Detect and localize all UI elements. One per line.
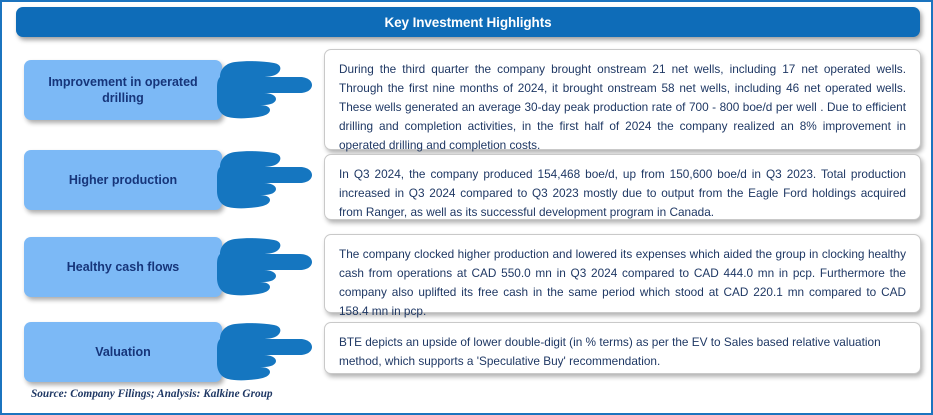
pointing-hand-right-icon — [214, 321, 318, 383]
highlight-text-card: During the third quarter the company bro… — [324, 49, 921, 150]
highlight-label-text: Improvement in operated drilling — [34, 74, 212, 107]
highlight-body-text: The company clocked higher production an… — [339, 245, 906, 321]
highlight-text-card: The company clocked higher production an… — [324, 234, 921, 313]
highlight-label-higher-production[interactable]: Higher production — [24, 150, 222, 210]
header-banner: Key Investment Highlights — [16, 7, 920, 37]
highlight-body-text: During the third quarter the company bro… — [339, 60, 906, 156]
highlight-body-text: In Q3 2024, the company produced 154,468… — [339, 165, 906, 222]
highlight-label-text: Healthy cash flows — [67, 259, 180, 276]
pointing-hand-right-icon — [214, 149, 318, 211]
pointing-hand-right-icon — [214, 236, 318, 298]
highlight-label-improvement-in-operated-drilling[interactable]: Improvement in operated drilling — [24, 60, 222, 120]
highlight-label-healthy-cash-flows[interactable]: Healthy cash flows — [24, 237, 222, 297]
highlight-label-valuation[interactable]: Valuation — [24, 322, 222, 382]
highlight-label-text: Higher production — [69, 172, 177, 189]
source-note: Source: Company Filings; Analysis: Kalki… — [31, 388, 273, 400]
highlight-text-card: In Q3 2024, the company produced 154,468… — [324, 154, 921, 220]
pointing-hand-right-icon — [214, 59, 318, 121]
highlight-text-card: BTE depicts an upside of lower double-di… — [324, 322, 921, 374]
highlight-body-text: BTE depicts an upside of lower double-di… — [339, 333, 906, 371]
slide-canvas: Key Investment Highlights Improvement in… — [0, 0, 933, 415]
page-title: Key Investment Highlights — [384, 15, 551, 30]
highlight-label-text: Valuation — [95, 344, 151, 361]
